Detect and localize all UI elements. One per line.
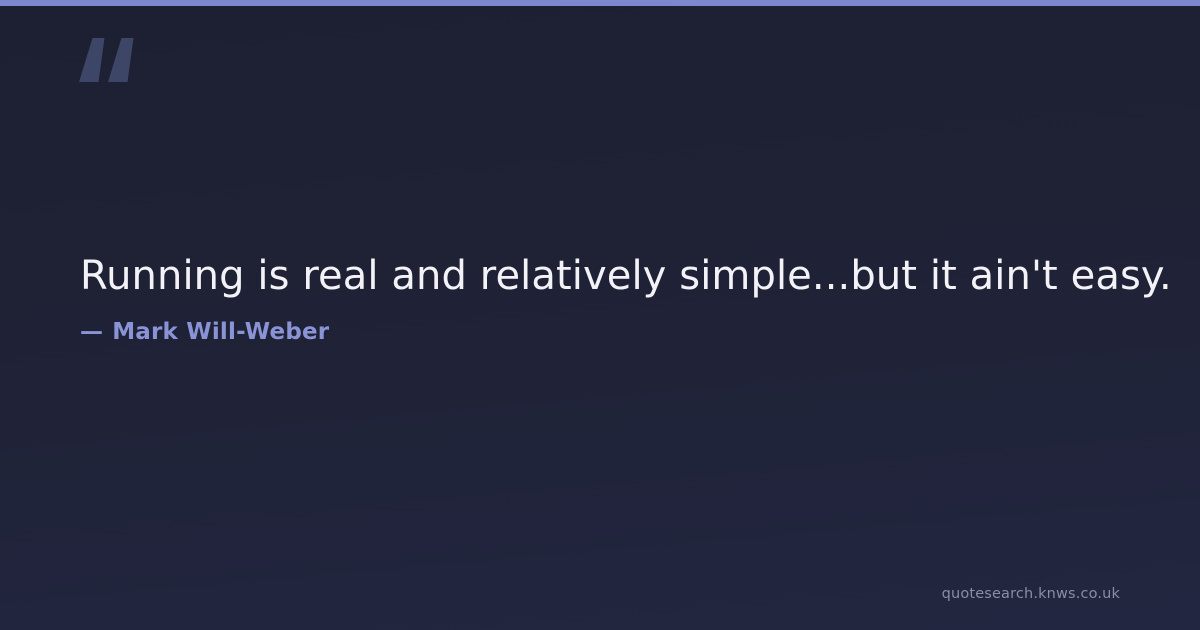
site-watermark: quotesearch.knws.co.uk <box>942 586 1120 602</box>
double-quote-icon <box>79 38 135 82</box>
quote-card: Running is real and relatively simple...… <box>0 0 1200 630</box>
quote-content: Running is real and relatively simple...… <box>80 250 1120 345</box>
quote-text: Running is real and relatively simple...… <box>80 250 1120 303</box>
attribution-author: Mark Will-Weber <box>112 319 329 345</box>
quote-attribution: — Mark Will-Weber <box>80 319 1120 345</box>
accent-bar <box>0 0 1200 6</box>
attribution-dash: — <box>80 319 103 345</box>
